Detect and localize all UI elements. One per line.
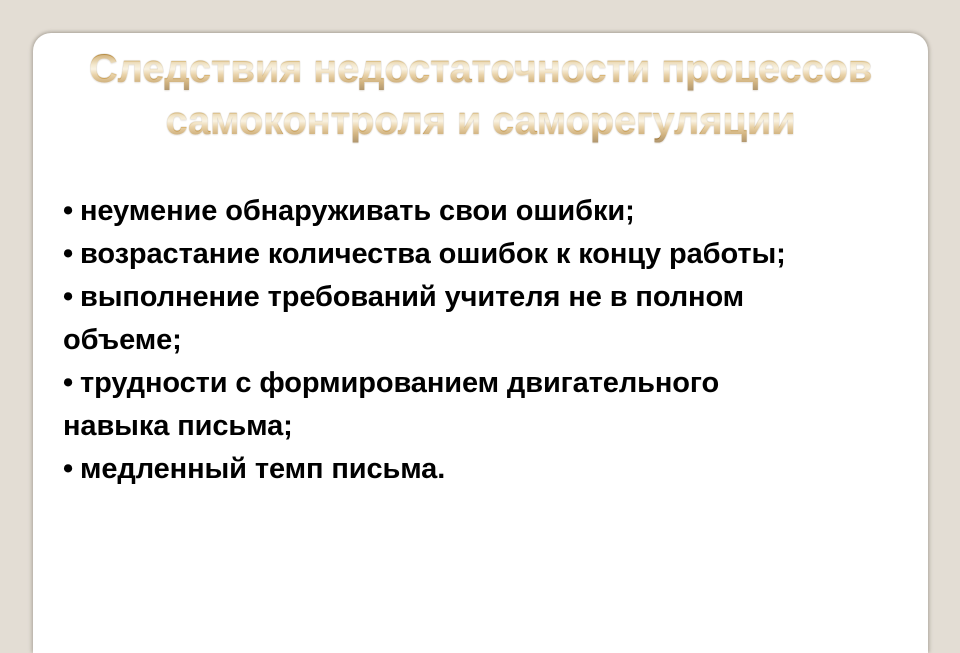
- bullet-item-5-text: медленный темп письма.: [80, 453, 445, 485]
- bullet-item-4-wrap: навыка письма;: [63, 405, 923, 448]
- bullet-item-2: •возрастание количества ошибок к концу р…: [63, 233, 923, 276]
- bullet-item-3-wrap-text: объеме;: [63, 324, 182, 356]
- bullet-item-4: •трудности с формированием двигательного: [63, 362, 923, 405]
- bullet-item-3-text: выполнение требований учителя не в полно…: [80, 281, 744, 313]
- bullet-item-2-text: возрастание количества ошибок к концу ра…: [80, 238, 786, 270]
- bullet-item-3: •выполнение требований учителя не в полн…: [63, 276, 923, 319]
- bullet-item-1: •неумение обнаруживать свои ошибки;: [63, 190, 923, 233]
- slide-root: Следствия недостаточности процессов само…: [0, 0, 960, 630]
- bullet-icon: •: [63, 362, 80, 405]
- title-line-2: самоконтроля и саморегуляции: [33, 95, 928, 147]
- bullet-icon: •: [63, 448, 80, 491]
- bullet-icon: •: [63, 276, 80, 319]
- bullet-icon: •: [63, 233, 80, 276]
- bullet-item-5: •медленный темп письма.: [63, 448, 923, 491]
- bullet-item-3-wrap: объеме;: [63, 319, 923, 362]
- bullet-item-1-text: неумение обнаруживать свои ошибки;: [80, 195, 635, 227]
- title-line-1: Следствия недостаточности процессов: [33, 43, 928, 95]
- slide-card: Следствия недостаточности процессов само…: [33, 33, 928, 653]
- bullet-icon: •: [63, 190, 80, 233]
- bullet-list: •неумение обнаруживать свои ошибки; •воз…: [63, 190, 923, 491]
- slide-title: Следствия недостаточности процессов само…: [33, 43, 928, 147]
- bullet-item-4-text: трудности с формированием двигательного: [80, 367, 719, 399]
- bullet-item-4-wrap-text: навыка письма;: [63, 410, 293, 442]
